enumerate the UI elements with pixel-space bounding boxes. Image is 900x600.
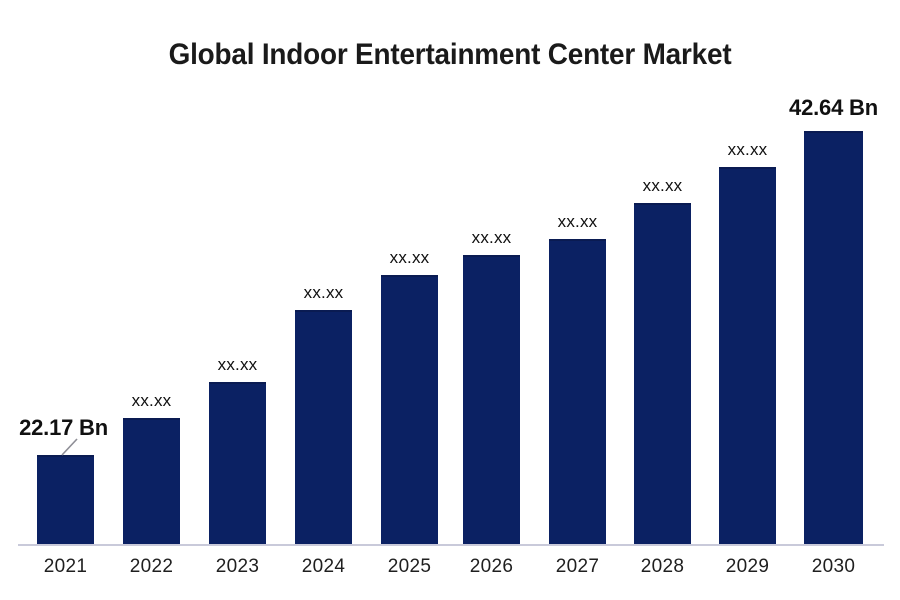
bar-2021[interactable] (37, 455, 94, 545)
bar-value-label-2027: xx.xx (558, 212, 598, 232)
tick-label-2030: 2030 (804, 556, 863, 578)
bar-value-label-2029: xx.xx (728, 140, 768, 160)
bar-2029[interactable] (719, 167, 776, 545)
tick-label-2021: 2021 (37, 556, 94, 578)
bar-2023[interactable] (209, 382, 266, 545)
tick-label-2024: 2024 (295, 556, 352, 578)
bar-2027[interactable] (549, 239, 606, 545)
x-axis-line (18, 544, 884, 546)
tick-label-2023: 2023 (209, 556, 266, 578)
bar-value-label-2030: 42.64 Bn (789, 95, 878, 121)
bar-value-label-2025: xx.xx (390, 248, 430, 268)
bar-group[interactable]: xx.xx (634, 203, 691, 545)
tick-label-2026: 2026 (463, 556, 520, 578)
bar-value-label-2021: 22.17 Bn (19, 415, 108, 441)
tick-label-2025: 2025 (381, 556, 438, 578)
bar-2028[interactable] (634, 203, 691, 545)
bar-2022[interactable] (123, 418, 180, 545)
bar-group[interactable]: xx.xx (295, 310, 352, 545)
bar-group[interactable]: xx.xx (381, 275, 438, 545)
bar-value-label-2023: xx.xx (218, 355, 258, 375)
bar-group[interactable]: xx.xx (123, 418, 180, 545)
bar-group[interactable]: 22.17 Bn (37, 455, 94, 545)
bar-chart-plot-area: 22.17 Bnxx.xxxx.xxxx.xxxx.xxxx.xxxx.xxxx… (0, 0, 900, 600)
tick-label-2022: 2022 (123, 556, 180, 578)
bar-2025[interactable] (381, 275, 438, 545)
bar-2030[interactable] (804, 131, 863, 545)
bar-2026[interactable] (463, 255, 520, 545)
bar-value-label-2022: xx.xx (132, 391, 172, 411)
chart-canvas: Global Indoor Entertainment Center Marke… (0, 0, 900, 600)
tick-label-2029: 2029 (719, 556, 776, 578)
bar-value-label-2028: xx.xx (643, 176, 683, 196)
tick-label-2028: 2028 (634, 556, 691, 578)
bar-value-label-2024: xx.xx (304, 283, 344, 303)
bar-group[interactable]: xx.xx (209, 382, 266, 545)
bar-value-label-2026: xx.xx (472, 228, 512, 248)
bar-group[interactable]: xx.xx (719, 167, 776, 545)
bar-2024[interactable] (295, 310, 352, 545)
bar-group[interactable]: xx.xx (549, 239, 606, 545)
bar-group[interactable]: xx.xx (463, 255, 520, 545)
tick-label-2027: 2027 (549, 556, 606, 578)
bar-group[interactable]: 42.64 Bn (804, 131, 863, 545)
